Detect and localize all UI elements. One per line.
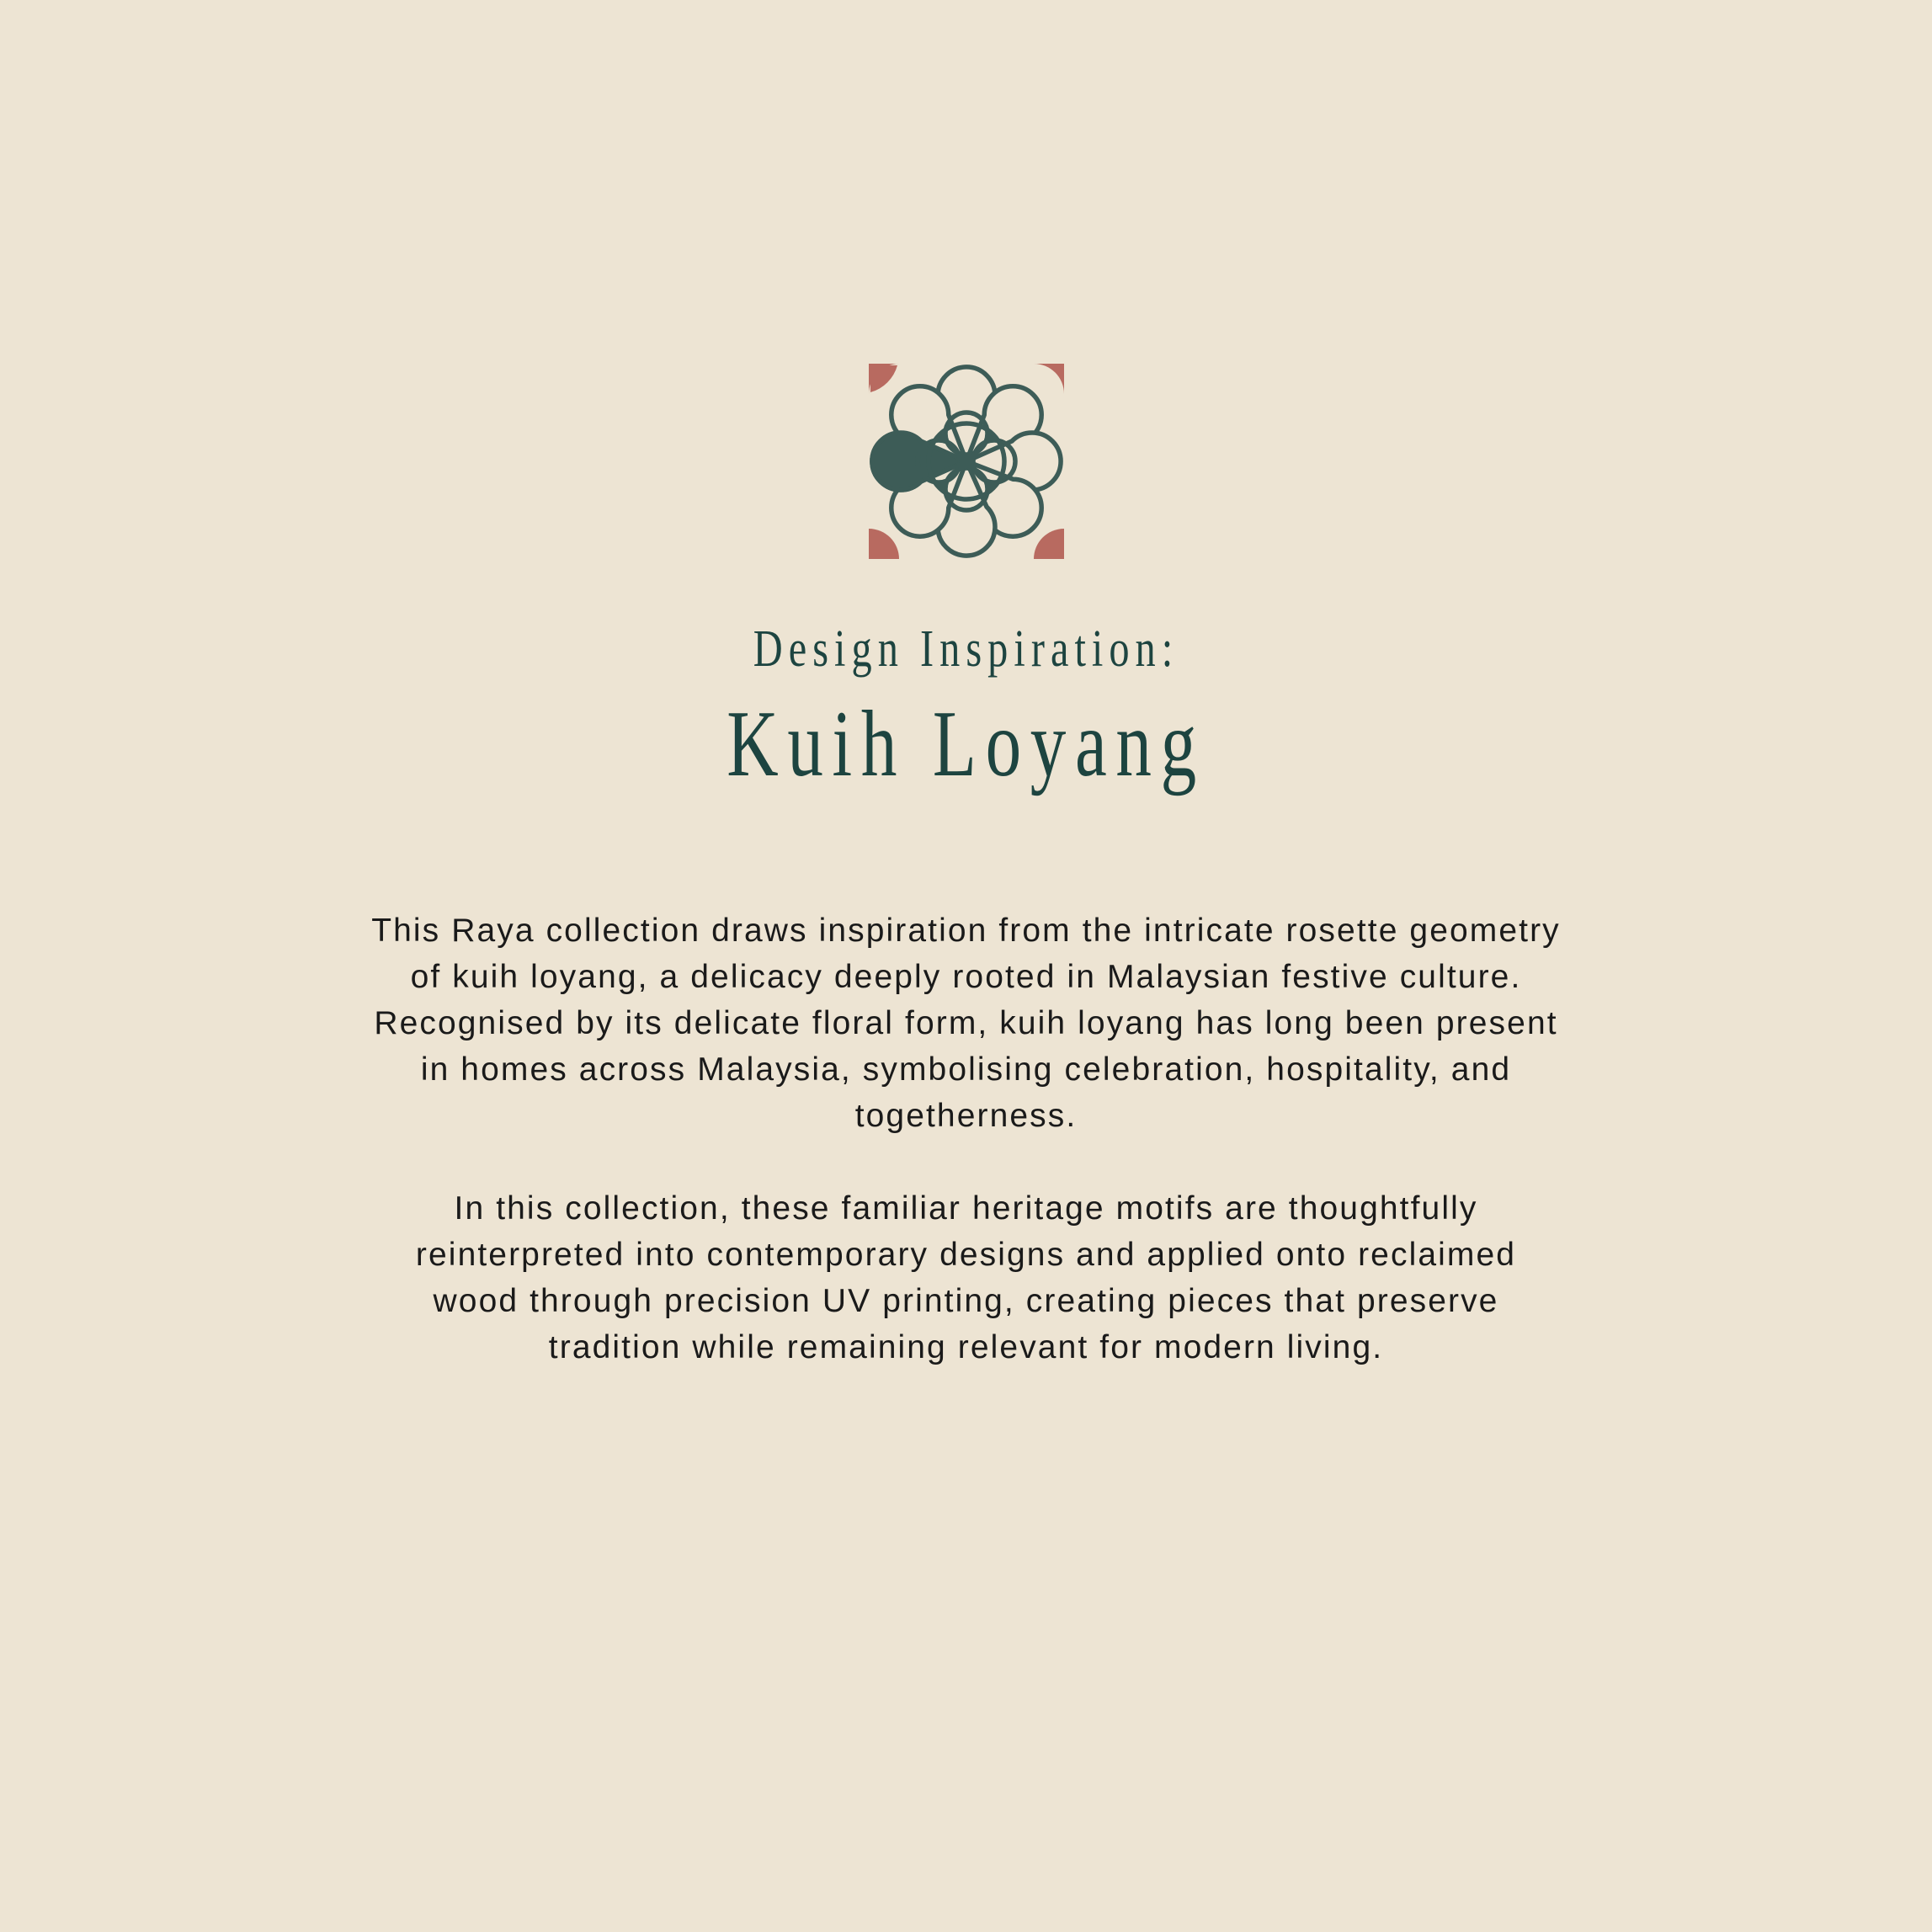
eyebrow-label: Design Inspiration: bbox=[212, 623, 1719, 675]
page-title: Kuih Loyang bbox=[232, 694, 1700, 796]
center-astroid bbox=[840, 335, 1093, 588]
paragraph-1: This Raya collection draws inspiration f… bbox=[369, 907, 1564, 1139]
paragraph-2: In this collection, these familiar herit… bbox=[369, 1185, 1564, 1370]
kuih-loyang-rosette-icon bbox=[840, 335, 1093, 588]
body-copy: This Raya collection draws inspiration f… bbox=[369, 907, 1564, 1370]
logo-container bbox=[0, 335, 1932, 588]
poster-canvas: Design Inspiration: Kuih Loyang This Ray… bbox=[0, 0, 1932, 1932]
heading-block: Design Inspiration: Kuih Loyang bbox=[0, 623, 1932, 796]
